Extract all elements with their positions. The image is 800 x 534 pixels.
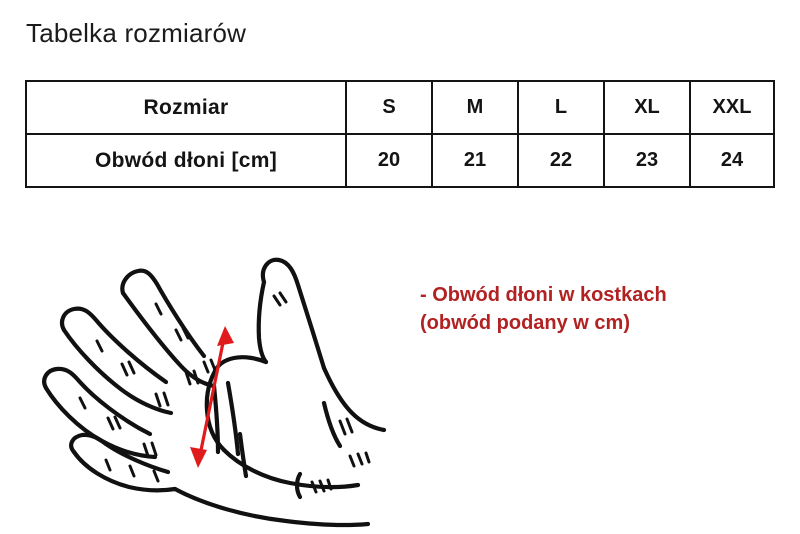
ring-finger-upper-edge xyxy=(44,369,150,434)
little-knuckle-crease xyxy=(154,471,158,481)
ring-knuckle-crease-b xyxy=(152,443,156,455)
size-cell-l: L xyxy=(518,81,604,134)
hand-drawing-svg xyxy=(28,238,428,534)
size-cell-s: S xyxy=(346,81,432,134)
size-cell-xl: XL xyxy=(604,81,690,134)
little-joint-crease-2 xyxy=(130,466,134,476)
wrist-crease-a xyxy=(340,421,345,434)
middle-joint-crease-2b xyxy=(129,362,134,373)
row-header-label-obwod-dloni: Obwód dłoni [cm] xyxy=(26,134,346,187)
palm-crease-short xyxy=(240,434,246,476)
index-knuckle-crease-a xyxy=(204,362,208,372)
wrist-bottom-line xyxy=(175,489,368,525)
thumb-joint-crease-b xyxy=(274,296,280,305)
size-cell-m: M xyxy=(432,81,518,134)
index-knuckle-crease-b xyxy=(211,360,215,370)
measurement-note: - Obwód dłoni w kostkach (obwód podany w… xyxy=(420,281,667,337)
wrist-hatch-4 xyxy=(312,482,316,492)
hand-illustration xyxy=(28,238,428,534)
thumb-inner-edge xyxy=(259,282,266,362)
little-joint-crease-1 xyxy=(106,460,110,470)
wrist-hatch-5 xyxy=(320,481,324,491)
wrist-hatch-2 xyxy=(358,454,362,464)
palm-right-crease xyxy=(324,403,340,446)
page-title: Tabelka rozmiarów xyxy=(26,18,246,49)
index-joint-crease-2a xyxy=(176,330,181,340)
measurement-arrow-head-top xyxy=(217,326,234,346)
wrist-hatch-3 xyxy=(366,453,369,462)
thumb-outer-edge xyxy=(263,260,324,368)
palm-crease-second xyxy=(228,383,238,454)
index-joint-crease-1 xyxy=(156,304,161,314)
middle-knuckle-crease-a xyxy=(156,394,160,406)
index-knuckle-crease-d xyxy=(194,371,198,383)
palm-right-upper-contour xyxy=(324,368,384,430)
circumference-cell-xxl: 24 xyxy=(690,134,774,187)
ring-finger-lower-edge xyxy=(46,388,155,457)
table-row-sizes: Rozmiar S M L XL XXL xyxy=(26,81,774,134)
circumference-cell-xl: 23 xyxy=(604,134,690,187)
ring-joint-crease-1 xyxy=(80,398,85,408)
middle-joint-crease-1 xyxy=(97,341,102,351)
circumference-cell-l: 22 xyxy=(518,134,604,187)
table-row-circumference: Obwód dłoni [cm] 20 21 22 23 24 xyxy=(26,134,774,187)
measurement-arrow-head-bottom xyxy=(190,447,207,468)
thumb-web-upper xyxy=(215,357,266,371)
wrist-crease-b xyxy=(347,419,352,432)
palm-crease-long xyxy=(214,386,218,452)
ring-joint-crease-2b xyxy=(115,417,120,428)
measurement-note-line-2: (obwód podany w cm) xyxy=(420,309,667,337)
size-cell-xxl: XXL xyxy=(690,81,774,134)
row-header-label-rozmiar: Rozmiar xyxy=(26,81,346,134)
thumb-joint-crease-a xyxy=(280,293,286,302)
circumference-cell-m: 21 xyxy=(432,134,518,187)
circumference-cell-s: 20 xyxy=(346,134,432,187)
middle-knuckle-crease-b xyxy=(164,393,168,405)
middle-joint-crease-2a xyxy=(122,364,127,375)
size-chart-table: Rozmiar S M L XL XXL Obwód dłoni [cm] 20… xyxy=(25,80,775,188)
measurement-note-line-1: - Obwód dłoni w kostkach xyxy=(420,281,667,309)
wrist-hatch-1 xyxy=(350,456,354,466)
ring-joint-crease-2a xyxy=(108,418,113,429)
